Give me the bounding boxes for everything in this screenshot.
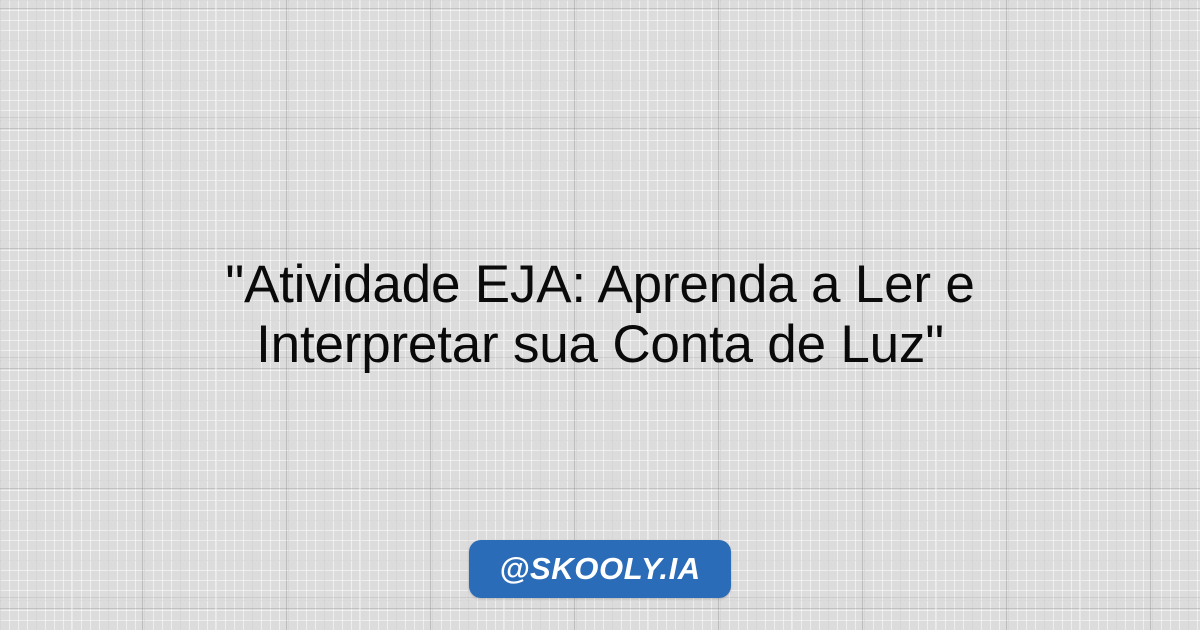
page-title: "Atividade EJA: Aprenda a Ler e Interpre… — [100, 255, 1100, 375]
card-content: "Atividade EJA: Aprenda a Ler e Interpre… — [0, 0, 1200, 630]
social-share-card: "Atividade EJA: Aprenda a Ler e Interpre… — [0, 0, 1200, 630]
